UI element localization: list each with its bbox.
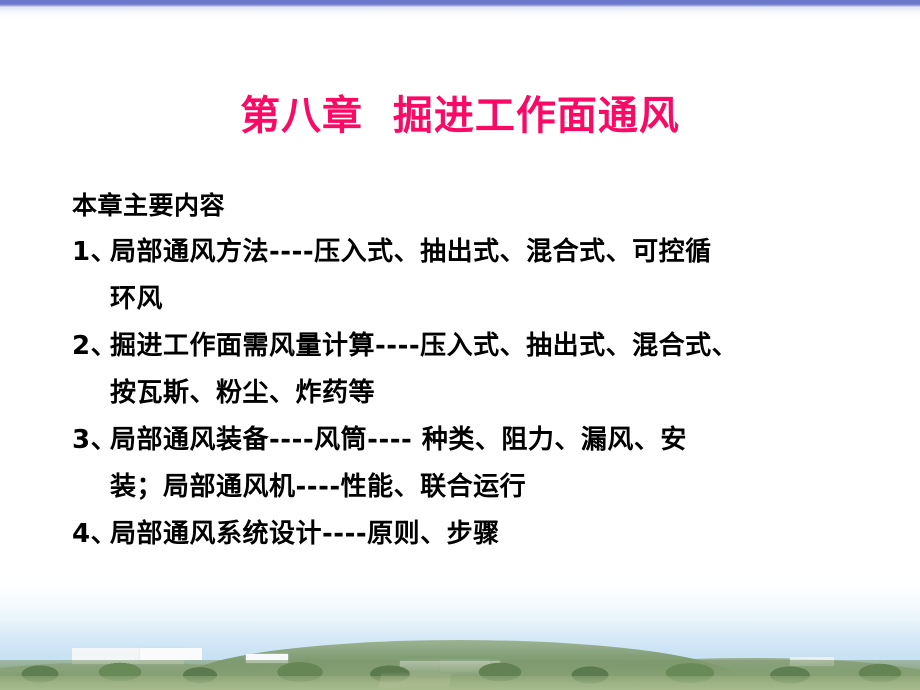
bullet-item-1: 1、局部通风方法----压入式、抽出式、混合式、可控循 xyxy=(72,229,872,276)
bullet-marker-3: 3、 xyxy=(72,417,110,464)
bullet-text-3-line1: 局部通风装备----风筒---- 种类、阻力、漏风、安 xyxy=(110,425,687,455)
bullet-text-2-line1: 掘进工作面需风量计算----压入式、抽出式、混合式、 xyxy=(110,331,738,361)
bullet-marker-1: 1、 xyxy=(72,229,110,276)
landscape-photo xyxy=(0,570,920,690)
bullet-item-4: 4、局部通风系统设计----原则、步骤 xyxy=(72,511,872,558)
bullet-item-2-cont: 按瓦斯、粉尘、炸药等 xyxy=(72,370,872,417)
bullet-marker-2: 2、 xyxy=(72,323,110,370)
bullet-text-1-line2: 环风 xyxy=(110,284,163,314)
bullet-text-1-line1: 局部通风方法----压入式、抽出式、混合式、可控循 xyxy=(110,237,712,267)
bullet-item-3-cont: 装；局部通风机----性能、联合运行 xyxy=(72,464,872,511)
slide-title: 第八章 掘进工作面通风 xyxy=(0,94,920,138)
bullet-item-2: 2、掘进工作面需风量计算----压入式、抽出式、混合式、 xyxy=(72,323,872,370)
landscape-photo-inner xyxy=(0,570,920,690)
presentation-slide: 第八章 掘进工作面通风 本章主要内容 1、局部通风方法----压入式、抽出式、混… xyxy=(0,0,920,690)
top-decorative-band xyxy=(0,0,920,7)
bullet-item-1-cont: 环风 xyxy=(72,276,872,323)
top-band-fade xyxy=(0,7,920,19)
slide-content: 本章主要内容 1、局部通风方法----压入式、抽出式、混合式、可控循 环风 2、… xyxy=(72,182,872,558)
bullet-text-4-line1: 局部通风系统设计----原则、步骤 xyxy=(110,519,500,549)
foreground-field xyxy=(0,676,920,690)
bullet-item-3: 3、局部通风装备----风筒---- 种类、阻力、漏风、安 xyxy=(72,417,872,464)
building-left-2 xyxy=(140,648,202,660)
bullet-text-2-line2: 按瓦斯、粉尘、炸药等 xyxy=(110,378,375,408)
bullet-text-3-line2: 装；局部通风机----性能、联合运行 xyxy=(110,472,526,502)
bullet-marker-4: 4、 xyxy=(72,511,110,558)
content-heading: 本章主要内容 xyxy=(72,182,872,229)
